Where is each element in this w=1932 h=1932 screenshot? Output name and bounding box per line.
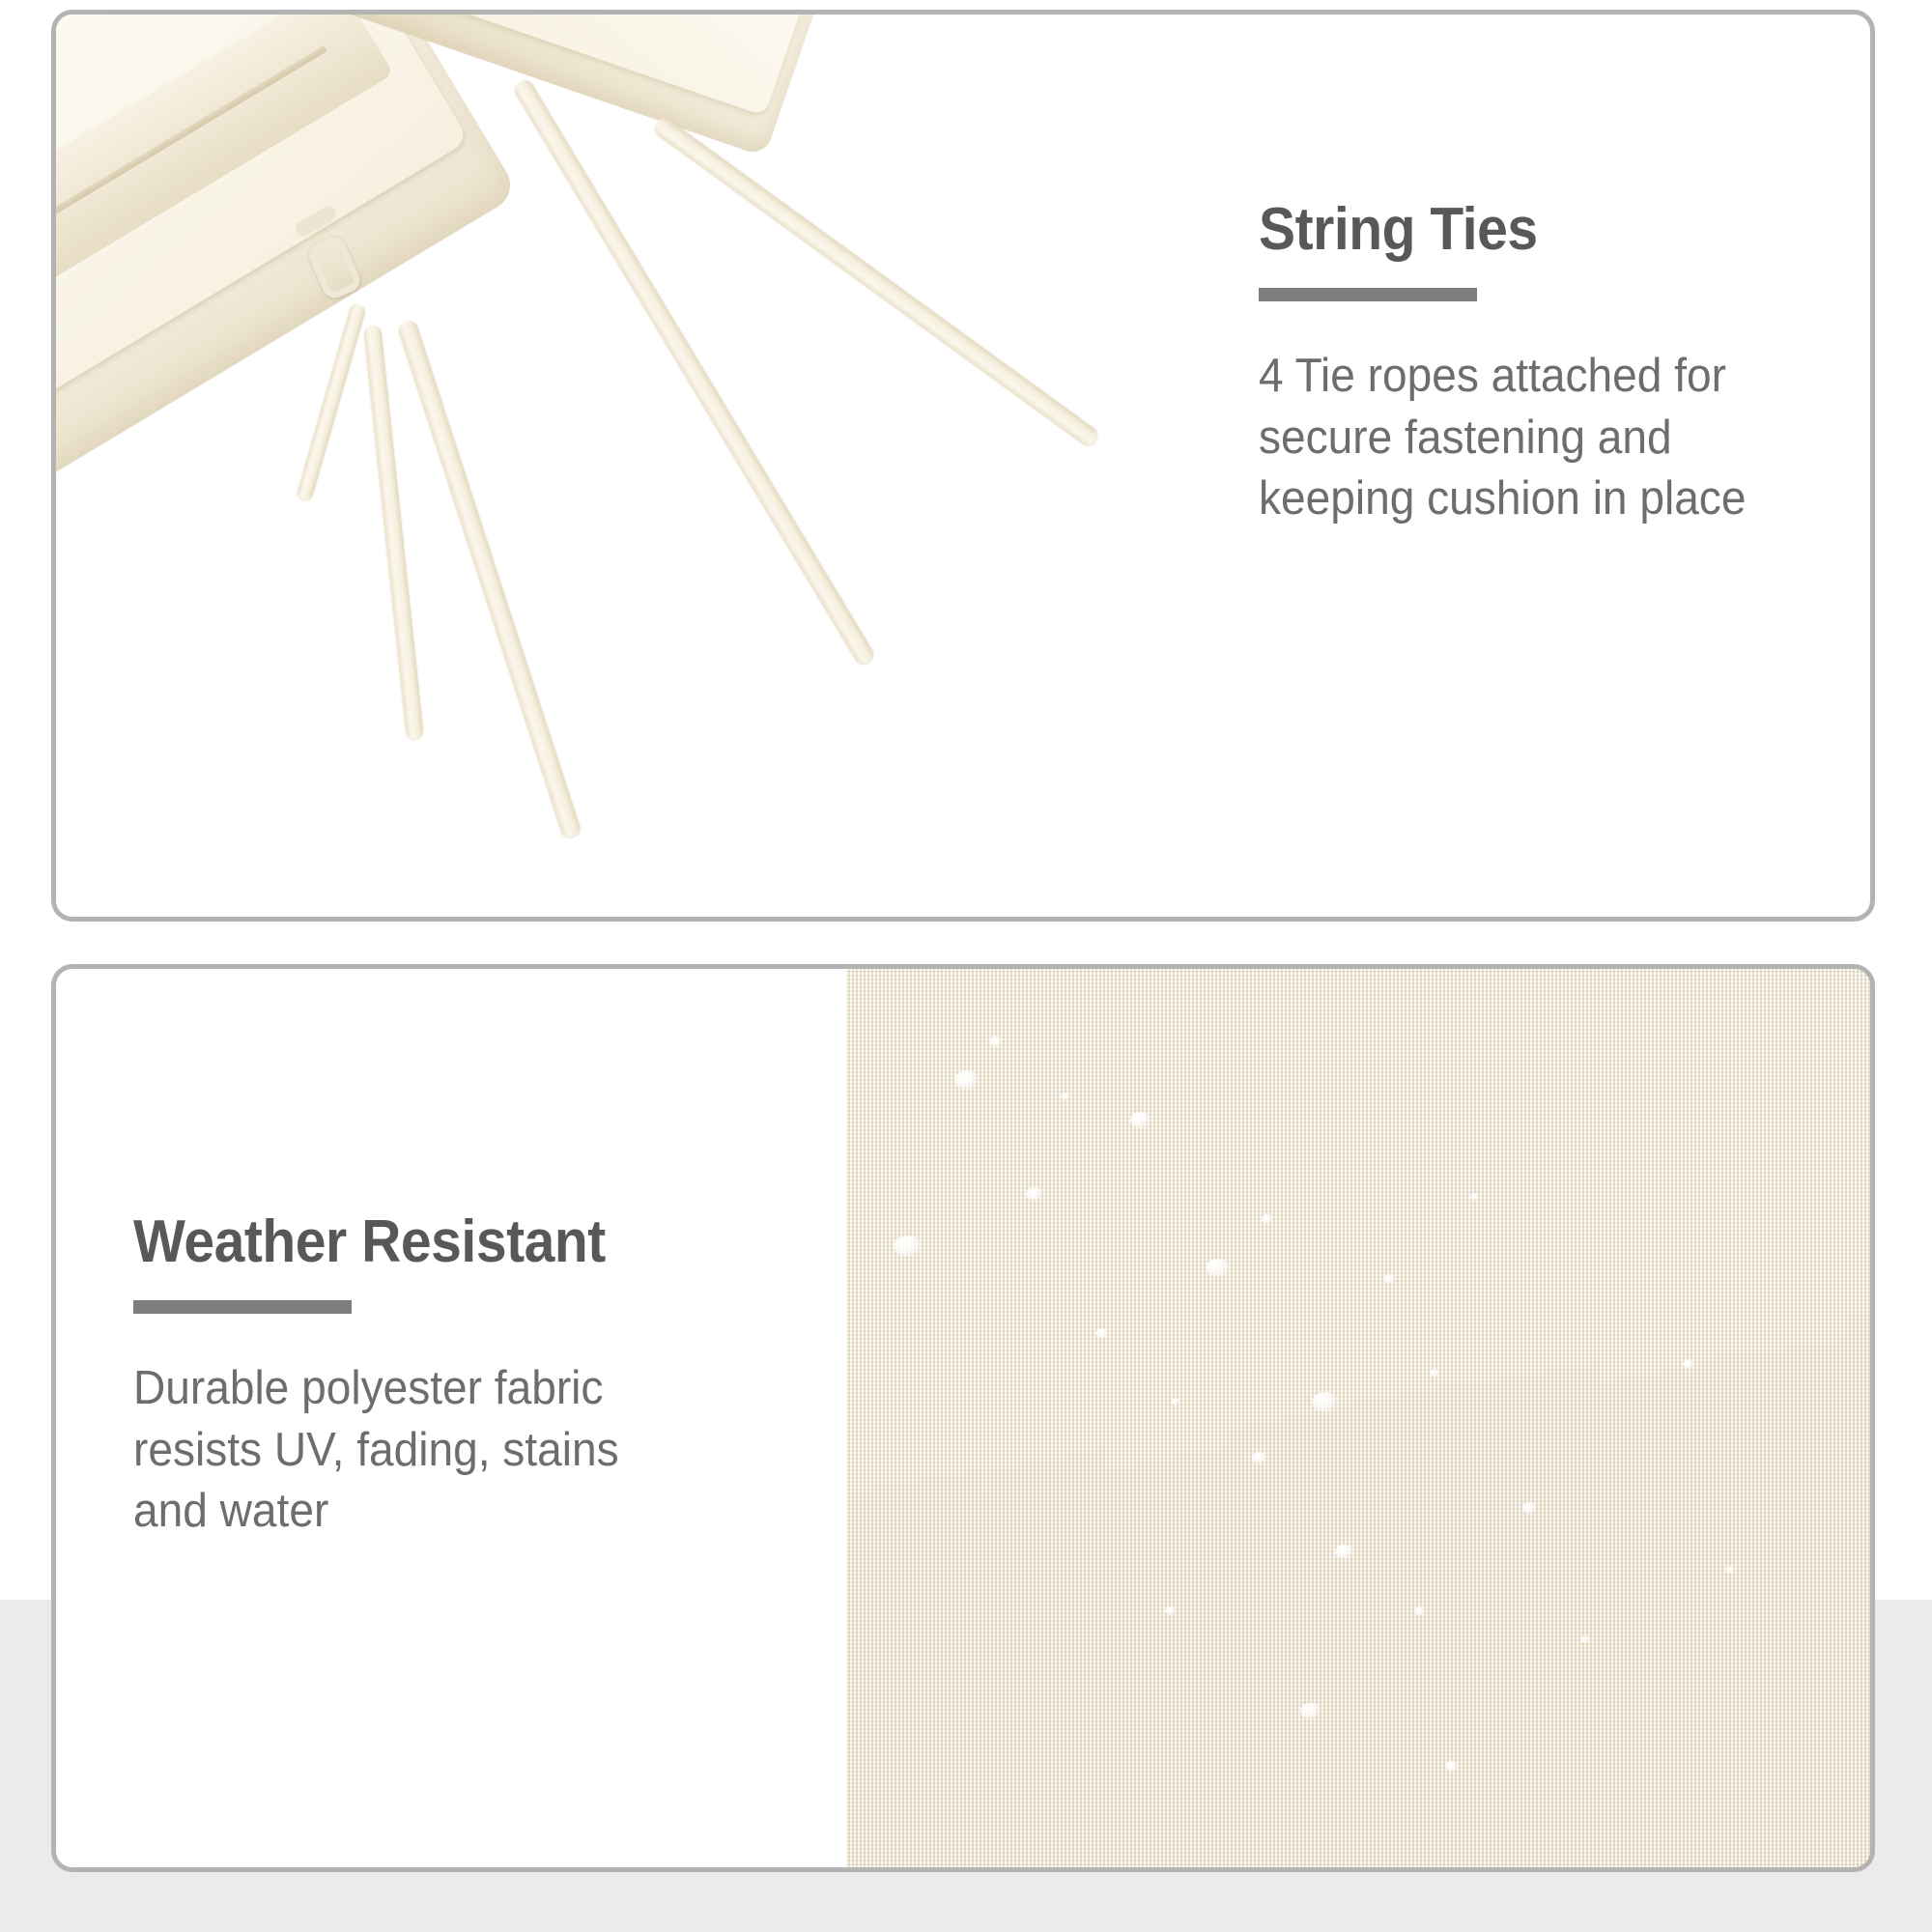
- water-droplet: [1061, 1093, 1070, 1100]
- water-droplet: [1130, 1112, 1151, 1128]
- water-droplet: [954, 1070, 980, 1090]
- water-droplet: [1580, 1635, 1590, 1643]
- infographic-canvas: String Ties 4 Tie ropes attached for sec…: [0, 0, 1932, 1932]
- string-ties-copy-block: String Ties 4 Tie ropes attached for sec…: [1259, 198, 1800, 530]
- water-droplet: [894, 1236, 923, 1257]
- tie-rope-1: [511, 77, 876, 667]
- water-droplet: [1312, 1392, 1339, 1412]
- water-droplet: [1262, 1214, 1273, 1224]
- water-droplet: [1445, 1761, 1459, 1772]
- water-droplet: [1470, 1193, 1479, 1201]
- water-droplet: [1171, 1398, 1180, 1406]
- water-droplet: [1725, 1566, 1735, 1574]
- water-droplet: [1335, 1545, 1354, 1559]
- weather-resistant-title: Weather Resistant: [133, 1210, 667, 1273]
- water-droplet: [1522, 1502, 1537, 1514]
- tie-rope-3: [396, 319, 582, 839]
- waterproof-fabric-photo: [846, 969, 1870, 1867]
- feature-panel-weather-resistant: Weather Resistant Durable polyester fabr…: [51, 964, 1875, 1872]
- weather-resistant-description: Durable polyester fabric resists UV, fad…: [133, 1358, 678, 1543]
- water-droplet: [1165, 1606, 1177, 1615]
- water-droplet: [1414, 1606, 1426, 1616]
- water-droplet: [1383, 1274, 1396, 1284]
- water-droplet: [1252, 1452, 1267, 1463]
- water-droplet: [1095, 1328, 1109, 1339]
- tie-rope-4: [363, 325, 424, 740]
- feature-panel-string-ties: String Ties 4 Tie ropes attached for sec…: [51, 10, 1875, 922]
- water-droplet: [1300, 1703, 1321, 1719]
- water-droplet: [989, 1037, 1003, 1047]
- string-ties-title: String Ties: [1259, 198, 1756, 261]
- weather-resistant-copy-block: Weather Resistant Durable polyester fabr…: [133, 1210, 713, 1543]
- string-ties-description: 4 Tie ropes attached for secure fastenin…: [1259, 346, 1767, 530]
- cushion-ties-photo: [56, 14, 1254, 917]
- water-droplet: [1430, 1369, 1440, 1378]
- weather-resistant-accent-bar: [133, 1300, 352, 1314]
- tie-rope-5: [296, 302, 366, 501]
- string-ties-accent-bar: [1259, 288, 1477, 301]
- water-droplet: [1206, 1259, 1231, 1277]
- water-droplet: [1026, 1187, 1043, 1201]
- water-droplet: [1683, 1359, 1694, 1369]
